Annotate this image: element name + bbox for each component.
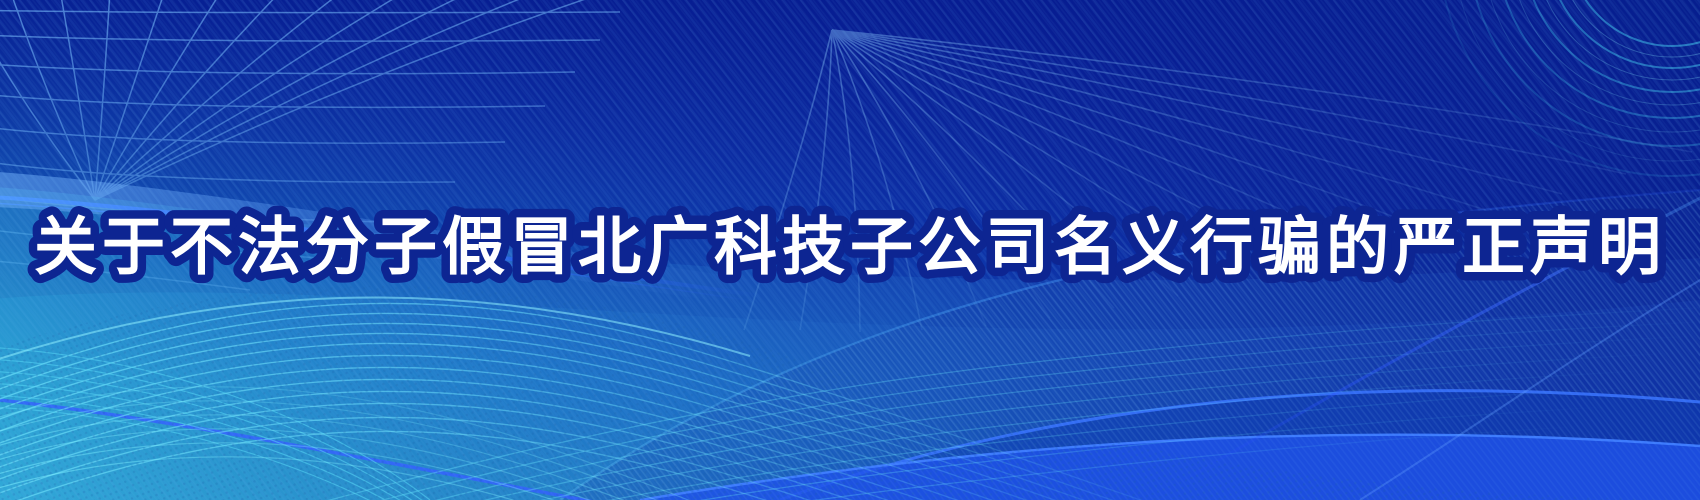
promo-banner: 关于不法分子假冒北广科技子公司名义行骗的严正声明 关于不法分子假冒北广科技子公司… [0,0,1700,500]
texture-overlay [0,0,1700,500]
